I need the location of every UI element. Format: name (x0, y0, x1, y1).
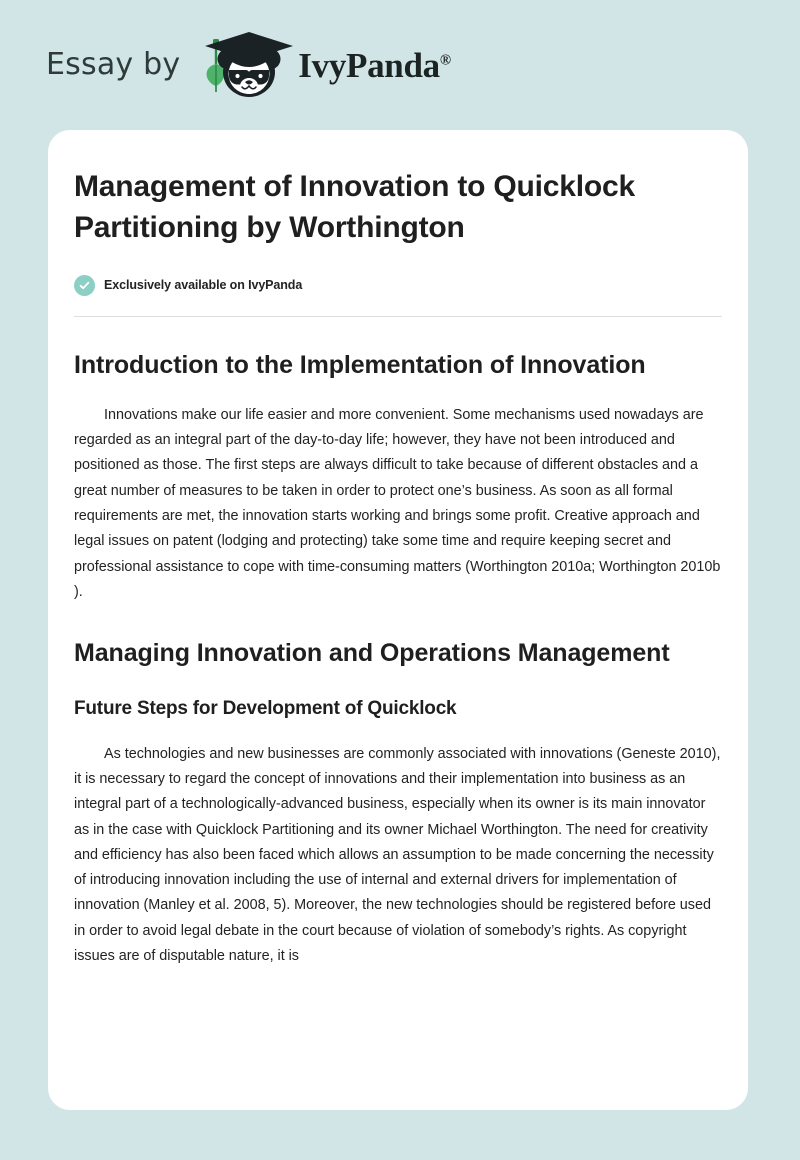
panda-graduate-icon (196, 26, 300, 104)
section-paragraph-introduction: Innovations make our life easier and mor… (74, 403, 722, 605)
header-divider (74, 316, 722, 317)
section-heading-managing-innovation: Managing Innovation and Operations Manag… (74, 633, 714, 673)
ivypanda-wordmark: IvyPanda® (298, 48, 450, 83)
registered-mark: ® (440, 52, 451, 68)
check-circle-icon (74, 275, 95, 296)
subsection-heading-future-steps: Future Steps for Development of Quickloc… (74, 695, 722, 724)
section-paragraph-future-steps: As technologies and new businesses are c… (74, 742, 722, 970)
wordmark-text: IvyPanda (298, 46, 440, 85)
exclusivity-label: Exclusively available on IvyPanda (104, 278, 302, 292)
section-heading-introduction: Introduction to the Implementation of In… (74, 345, 714, 385)
essay-page: Essay by (0, 0, 800, 1160)
exclusivity-badge: Exclusively available on IvyPanda (74, 275, 722, 296)
ivypanda-logo[interactable]: IvyPanda® (196, 26, 450, 104)
essay-card: Management of Innovation to Quicklock Pa… (48, 130, 748, 1110)
essay-by-label: Essay by (46, 50, 180, 80)
brand-header: Essay by (0, 0, 800, 130)
page-title: Management of Innovation to Quicklock Pa… (74, 166, 719, 249)
